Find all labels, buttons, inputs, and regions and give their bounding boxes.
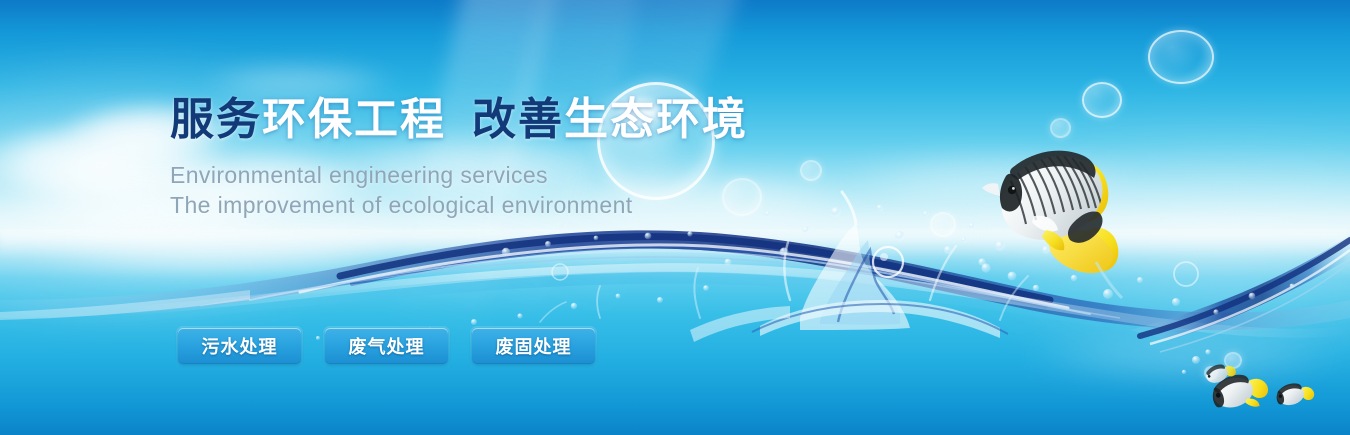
sewage-treatment-button[interactable]: 污水处理: [178, 328, 301, 364]
headline-segment-dark-2: 改善: [472, 95, 564, 144]
right-light-haze: [950, 120, 1350, 380]
service-button-row: 污水处理 污水处理 废气处理 废气处理 废固处理 废固处理: [178, 328, 595, 364]
service-button-wrapper-sewage: 污水处理 污水处理: [178, 328, 301, 364]
hero-banner: 服务环保工程改善生态环境 Environmental engineering s…: [0, 0, 1350, 435]
service-button-wrapper-waste-gas: 废气处理 废气处理: [325, 328, 448, 364]
service-button-wrapper-solid-waste: 废固处理 废固处理: [472, 328, 595, 364]
headline-segment-dark-1: 服务: [170, 95, 262, 144]
subtitle-line-1: Environmental engineering services: [170, 162, 548, 189]
waste-gas-treatment-button-label: 废气处理: [349, 333, 425, 359]
solid-waste-treatment-button-label: 废固处理: [496, 333, 572, 359]
subtitle-line-2: The improvement of ecological environmen…: [170, 192, 633, 219]
waste-gas-treatment-button[interactable]: 废气处理: [325, 328, 448, 364]
headline-segment-light-2: 生态环境: [564, 95, 748, 144]
solid-waste-treatment-button[interactable]: 废固处理: [472, 328, 595, 364]
headline-segment-light-1: 环保工程: [262, 95, 446, 144]
page-title: 服务环保工程改善生态环境: [170, 98, 748, 142]
left-light-haze: [0, 40, 440, 340]
sewage-treatment-button-label: 污水处理: [202, 333, 278, 359]
